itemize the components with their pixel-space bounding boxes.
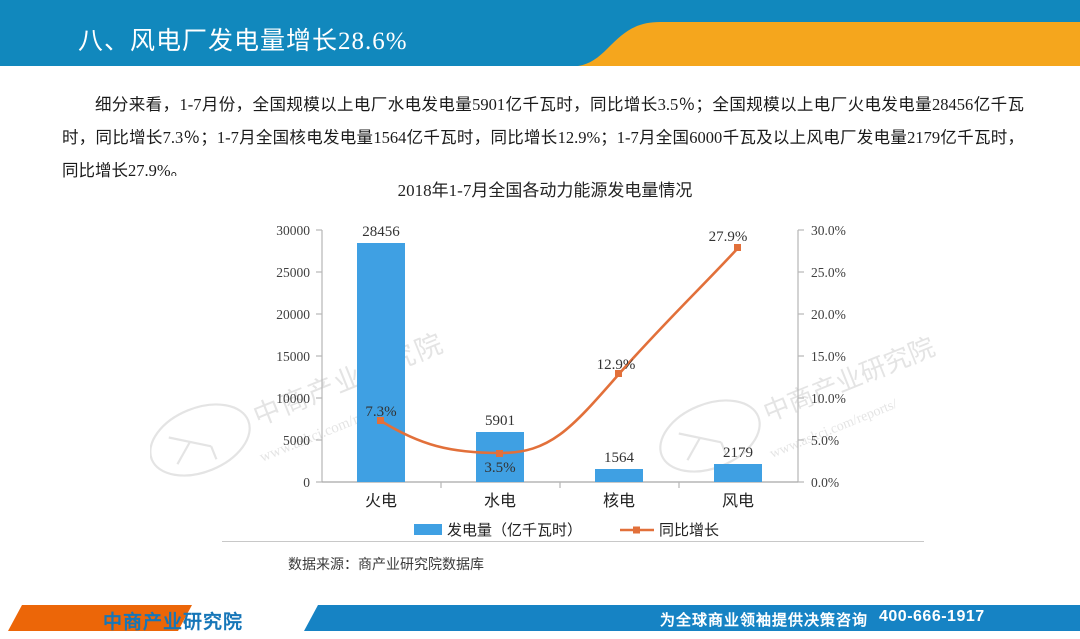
legend-label-line: 同比增长	[659, 522, 719, 539]
source-note: 数据来源：商产业研究院数据库	[288, 554, 484, 574]
line-value-label: 12.9%	[597, 357, 636, 373]
bar-value-label: 2179	[723, 445, 753, 461]
page-title: 八、风电厂发电量增长28.6%	[78, 21, 408, 57]
bar-huodian	[357, 243, 405, 482]
right-tick-label: 25.0%	[811, 265, 846, 280]
x-category-label: 核电	[603, 492, 635, 510]
legend-label-bar: 发电量（亿千瓦时）	[447, 522, 582, 539]
legend-swatch-bar	[414, 524, 442, 535]
chart-legend: 发电量（亿千瓦时） 同比增长	[414, 522, 719, 539]
x-category-label: 火电	[365, 492, 397, 510]
x-category-label: 水电	[484, 492, 516, 510]
left-tick-label: 25000	[276, 265, 310, 280]
chart-container: 2018年1-7月全国各动力能源发电量情况 中商产业研究院 www.askci.…	[150, 176, 940, 548]
legend-marker-line	[633, 527, 640, 534]
left-tick-label: 5000	[283, 433, 310, 448]
right-tick-label: 30.0%	[811, 223, 846, 238]
right-tick-label: 20.0%	[811, 307, 846, 322]
chart-title: 2018年1-7月全国各动力能源发电量情况	[150, 176, 940, 201]
bar-value-label: 5901	[485, 413, 515, 429]
bar-value-label: 28456	[362, 224, 400, 240]
page-header: 八、风电厂发电量增长28.6%	[0, 0, 1080, 70]
left-tick-label: 10000	[276, 391, 310, 406]
source-divider	[222, 541, 924, 542]
left-tick-label: 15000	[276, 349, 310, 364]
right-tick-label: 0.0%	[811, 475, 839, 490]
line-value-label: 3.5%	[484, 460, 515, 476]
line-value-label: 27.9%	[709, 229, 748, 245]
left-tick-label: 0	[303, 475, 310, 490]
line-value-label: 7.3%	[365, 404, 396, 420]
bar-value-label: 1564	[604, 450, 635, 466]
right-tick-label: 10.0%	[811, 391, 846, 406]
footer-slogan: 为全球商业领袖提供决策咨询	[660, 609, 868, 630]
footer-phone: 400-666-1917	[879, 608, 985, 626]
chart-plot: 中商产业研究院 www.askci.com/reports/ 中商产业研究院 w…	[150, 200, 940, 548]
left-tick-label: 20000	[276, 307, 310, 322]
footer-brand: 中商产业研究院	[103, 607, 243, 634]
x-category-label: 风电	[722, 492, 754, 510]
bar-hedian	[595, 469, 643, 482]
right-tick-label: 15.0%	[811, 349, 846, 364]
page-footer: 中商产业研究院 为全球商业领袖提供决策咨询 400-666-1917	[0, 597, 1080, 639]
right-tick-label: 5.0%	[811, 433, 839, 448]
body-paragraph: 细分来看，1-7月份，全国规模以上电厂水电发电量5901亿千瓦时，同比增长3.5…	[62, 88, 1024, 187]
left-tick-label: 30000	[276, 223, 310, 238]
bar-fengdian	[714, 464, 762, 482]
